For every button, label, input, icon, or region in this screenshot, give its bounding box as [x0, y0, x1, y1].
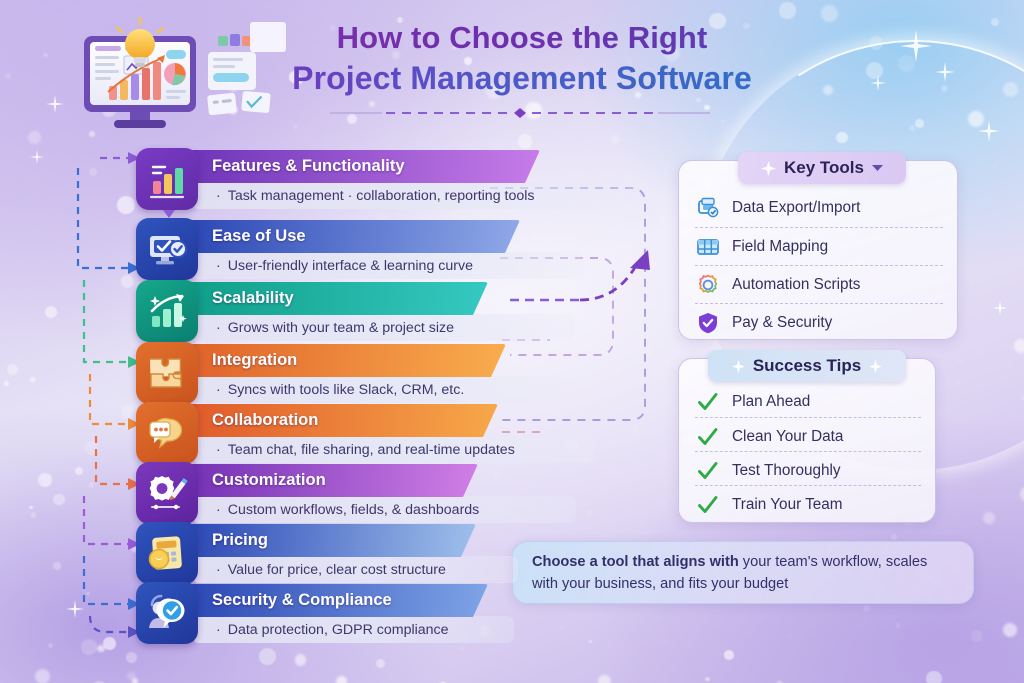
- bullet-icon: ·: [216, 502, 221, 518]
- sparkle-icon: [732, 360, 745, 373]
- bullet-icon: ·: [216, 320, 221, 336]
- sparkle-decoration: [978, 120, 1000, 142]
- check-icon: [695, 424, 721, 450]
- flow-item-subtitle-bar: ·Value for price, clear cost structure: [194, 556, 518, 583]
- flow-item-subtitle-text: Syncs with tools like Slack, CRM, etc.: [228, 382, 465, 398]
- flow-item-title: Features & Functionality: [212, 157, 405, 176]
- flow-item-subtitle-bar: ·Syncs with tools like Slack, CRM, etc.: [194, 376, 562, 403]
- growth-chart-icon: [136, 280, 198, 342]
- flow-item-subtitle-bar: ·Task management · collaboration, report…: [194, 182, 634, 209]
- sparkle-decoration: [992, 300, 1008, 316]
- flow-item-subtitle-text: User-friendly interface & learning curve: [228, 258, 473, 274]
- table-grid-icon: [695, 234, 721, 260]
- flow-item-subtitle: ·Custom workflows, fields, & dashboards: [216, 502, 479, 518]
- check-icon: [695, 458, 721, 484]
- flow-item-title-bar: Integration: [188, 344, 506, 377]
- data-export-icon: [695, 195, 721, 221]
- flow-item-subtitle-text: Grows with your team & project size: [228, 320, 454, 336]
- flow-item-title-bar: Collaboration: [188, 404, 498, 437]
- bullet-icon: ·: [216, 258, 221, 274]
- flow-item-subtitle-text: Team chat, file sharing, and real-time u…: [228, 442, 515, 458]
- flow-item-subtitle: ·Data protection, GDPR compliance: [216, 622, 449, 638]
- flow-item-title: Collaboration: [212, 411, 318, 430]
- callout-bold: Choose a tool that aligns with: [532, 554, 739, 570]
- flow-item[interactable]: ·Syncs with tools like Slack, CRM, etc.I…: [136, 342, 656, 404]
- flow-down-arrow: [161, 210, 177, 218]
- sparkle-decoration: [935, 62, 955, 82]
- flow-item-subtitle-bar: ·Grows with your team & project size: [194, 314, 574, 341]
- flow-item-subtitle-text: Data protection, GDPR compliance: [228, 622, 449, 638]
- flow-item-title-bar: Customization: [188, 464, 478, 497]
- check-icon: [695, 389, 721, 415]
- flow-item-subtitle: ·Syncs with tools like Slack, CRM, etc.: [216, 382, 464, 398]
- sparkle-icon: [869, 360, 882, 373]
- flow-item-title: Scalability: [212, 289, 294, 308]
- flow-item-subtitle: ·Task management · collaboration, report…: [216, 188, 535, 204]
- sparkle-decoration: [870, 75, 886, 91]
- success-tips-title-chip[interactable]: Success Tips: [708, 350, 906, 382]
- key-tools-row[interactable]: Pay & Security: [695, 303, 943, 341]
- flow-item-subtitle-bar: ·Custom workflows, fields, & dashboards: [194, 496, 576, 523]
- sparkle-icon: [761, 161, 776, 176]
- flow-item[interactable]: ·Grows with your team & project sizeScal…: [136, 280, 656, 342]
- bullet-icon: ·: [216, 562, 221, 578]
- success-tips-panel: Plan Ahead Clean Your Data Test Thorough…: [678, 358, 936, 523]
- success-tip-row[interactable]: Train Your Team: [695, 485, 921, 523]
- infographic-canvas: How to Choose the Right Project Manageme…: [0, 0, 1024, 683]
- flow-item-subtitle: ·User-friendly interface & learning curv…: [216, 258, 473, 274]
- success-tip-row[interactable]: Clean Your Data: [695, 417, 921, 455]
- key-tools-title: Key Tools: [784, 158, 864, 178]
- flow-item-title: Security & Compliance: [212, 591, 392, 610]
- flow-item-subtitle-bar: ·Team chat, file sharing, and real-time …: [194, 436, 594, 463]
- flow-item-title-bar: Security & Compliance: [188, 584, 488, 617]
- flow-item[interactable]: ·Task management · collaboration, report…: [136, 148, 656, 210]
- success-tip-label: Train Your Team: [732, 496, 843, 514]
- key-tools-label: Pay & Security: [732, 314, 832, 332]
- bullet-icon: ·: [216, 622, 221, 638]
- dashboard-monitor-illustration: [62, 14, 272, 134]
- flow-item-title: Customization: [212, 471, 326, 490]
- shield-check-icon: [695, 310, 721, 336]
- flow-item-title-bar: Ease of Use: [188, 220, 520, 253]
- flow-item-subtitle-text: Value for price, clear cost structure: [228, 562, 446, 578]
- key-tools-row[interactable]: Field Mapping: [695, 227, 943, 265]
- monitor-check-icon: [136, 218, 198, 280]
- flow-item-title: Integration: [212, 351, 297, 370]
- bullet-icon: ·: [216, 442, 221, 458]
- callout-text: Choose a tool that aligns with your team…: [513, 551, 973, 595]
- key-tools-title-chip[interactable]: Key Tools: [738, 152, 906, 184]
- flow-item-subtitle: ·Value for price, clear cost structure: [216, 562, 446, 578]
- title-line-2: Project Management Software: [262, 58, 782, 98]
- success-tip-label: Clean Your Data: [732, 428, 843, 446]
- success-tip-label: Test Thoroughly: [732, 462, 841, 480]
- flow-item-subtitle: ·Grows with your team & project size: [216, 320, 454, 336]
- flow-item[interactable]: ·Custom workflows, fields, & dashboardsC…: [136, 462, 656, 524]
- check-icon: [695, 492, 721, 518]
- flow-item[interactable]: ·User-friendly interface & learning curv…: [136, 218, 656, 280]
- key-tools-label: Data Export/Import: [732, 199, 860, 217]
- flow-item-title-bar: Pricing: [188, 524, 476, 557]
- flow-item-title-bar: Features & Functionality: [188, 150, 540, 183]
- flow-item[interactable]: ·Team chat, file sharing, and real-time …: [136, 402, 656, 464]
- flow-item-title: Pricing: [212, 531, 268, 550]
- flow-item-subtitle-bar: ·User-friendly interface & learning curv…: [194, 252, 584, 279]
- success-tip-row[interactable]: Plan Ahead: [695, 383, 921, 421]
- flow-item-subtitle-text: Task management · collaboration, reporti…: [228, 188, 535, 204]
- chevron-down-icon[interactable]: [872, 164, 883, 172]
- flow-item-title-bar: Scalability: [188, 282, 488, 315]
- bullet-icon: ·: [216, 188, 221, 204]
- flow-item-subtitle: ·Team chat, file sharing, and real-time …: [216, 442, 515, 458]
- key-tools-label: Automation Scripts: [732, 276, 860, 294]
- sparkle-decoration: [30, 150, 44, 164]
- diamond-divider: [330, 106, 710, 120]
- bullet-icon: ·: [216, 382, 221, 398]
- flow-item-subtitle-bar: ·Data protection, GDPR compliance: [194, 616, 514, 643]
- sparkle-decoration: [900, 30, 932, 62]
- gear-icon: [695, 272, 721, 298]
- title-line-1: How to Choose the Right: [262, 18, 782, 58]
- flow-item-subtitle-text: Custom workflows, fields, & dashboards: [228, 502, 480, 518]
- key-tools-row[interactable]: Data Export/Import: [695, 189, 943, 227]
- summary-callout: Choose a tool that aligns with your team…: [512, 541, 974, 604]
- page-title: How to Choose the Right Project Manageme…: [262, 18, 782, 98]
- user-shield-check-icon: [136, 582, 198, 644]
- success-tips-title: Success Tips: [753, 356, 861, 376]
- key-tools-row[interactable]: Automation Scripts: [695, 265, 943, 303]
- flow-item-title: Ease of Use: [212, 227, 306, 246]
- bar-chart-icon: [136, 148, 198, 210]
- key-tools-panel: Data Export/Import Field Mapping: [678, 160, 958, 340]
- success-tip-label: Plan Ahead: [732, 393, 810, 411]
- key-tools-label: Field Mapping: [732, 238, 828, 256]
- success-tip-row[interactable]: Test Thoroughly: [695, 451, 921, 489]
